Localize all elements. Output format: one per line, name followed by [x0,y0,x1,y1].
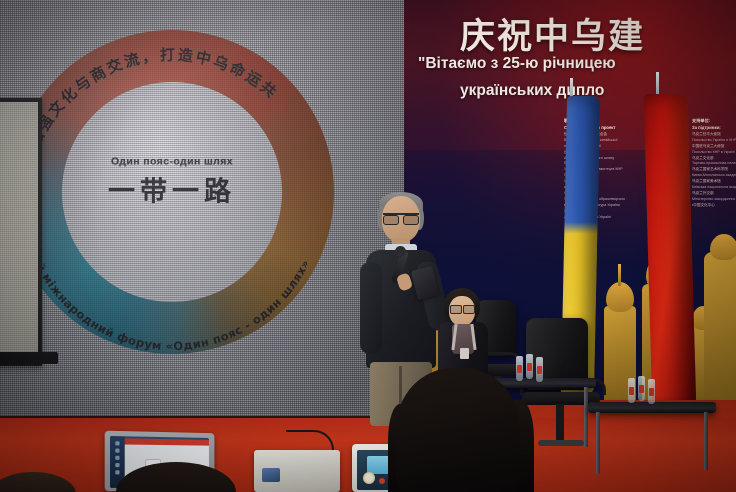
attendee-badge [460,348,469,359]
credit-line: 支持单位: [692,118,736,125]
tablet-photo-accent [379,478,385,484]
water-bottle [516,356,523,381]
water-bottle [526,354,533,379]
attendee-glasses [450,305,475,312]
water-bottle [648,379,655,404]
banner-credits-right: 支持单位:За підтримки:乌克兰驻华大使馆Посольство Укр… [692,118,736,209]
cathedral-silhouette-right [704,232,736,402]
china-flag: ★ [644,94,697,414]
credit-line: За підтримки: [692,125,736,132]
water-bottle [628,378,635,403]
screenshot-root: Один пояс-один шлях 一带一路 加强文化与商交流，打造中乌命运… [0,0,736,492]
credit-line: •中国文化中心 [692,203,736,209]
emblem-arc-text: 加强文化与商交流，打造中乌命运共 ський міжнародний форум… [10,30,334,354]
microphone-head [395,246,406,257]
foreground-head-center [396,368,520,492]
banner-line-ukrainian-1: "Вітаємо з 25-ю річницею [418,55,736,73]
belt-and-road-emblem: Один пояс-один шлях 一带一路 加强文化与商交流，打造中乌命运… [10,30,334,354]
wall-panel-base [0,352,58,364]
wall-panel [0,98,42,366]
water-bottle [536,357,543,382]
tablet-photo-flower [363,472,375,484]
speaker-left-arm [360,262,382,354]
credit-line: Посольство КНР в Україні [692,150,736,156]
water-bottle [638,376,645,401]
credit-line: Посольство України в КНР [692,138,736,144]
emblem-arc-bottom-cyrillic: ський міжнародний форум «Один пояс - оди… [22,233,313,353]
emblem-arc-top-chinese: 加强文化与商交流，打造中乌命运共 [25,46,282,151]
table-right [588,402,718,492]
projection-screen: Один пояс-один шлях 一带一路 加强文化与商交流，打造中乌命运… [0,0,404,418]
banner-headline-chinese: 庆祝中乌建 [460,8,736,59]
projector-lens [262,468,280,482]
banner-line-ukrainian-2: українських дипло [460,82,736,100]
speaker-glasses [383,213,419,223]
